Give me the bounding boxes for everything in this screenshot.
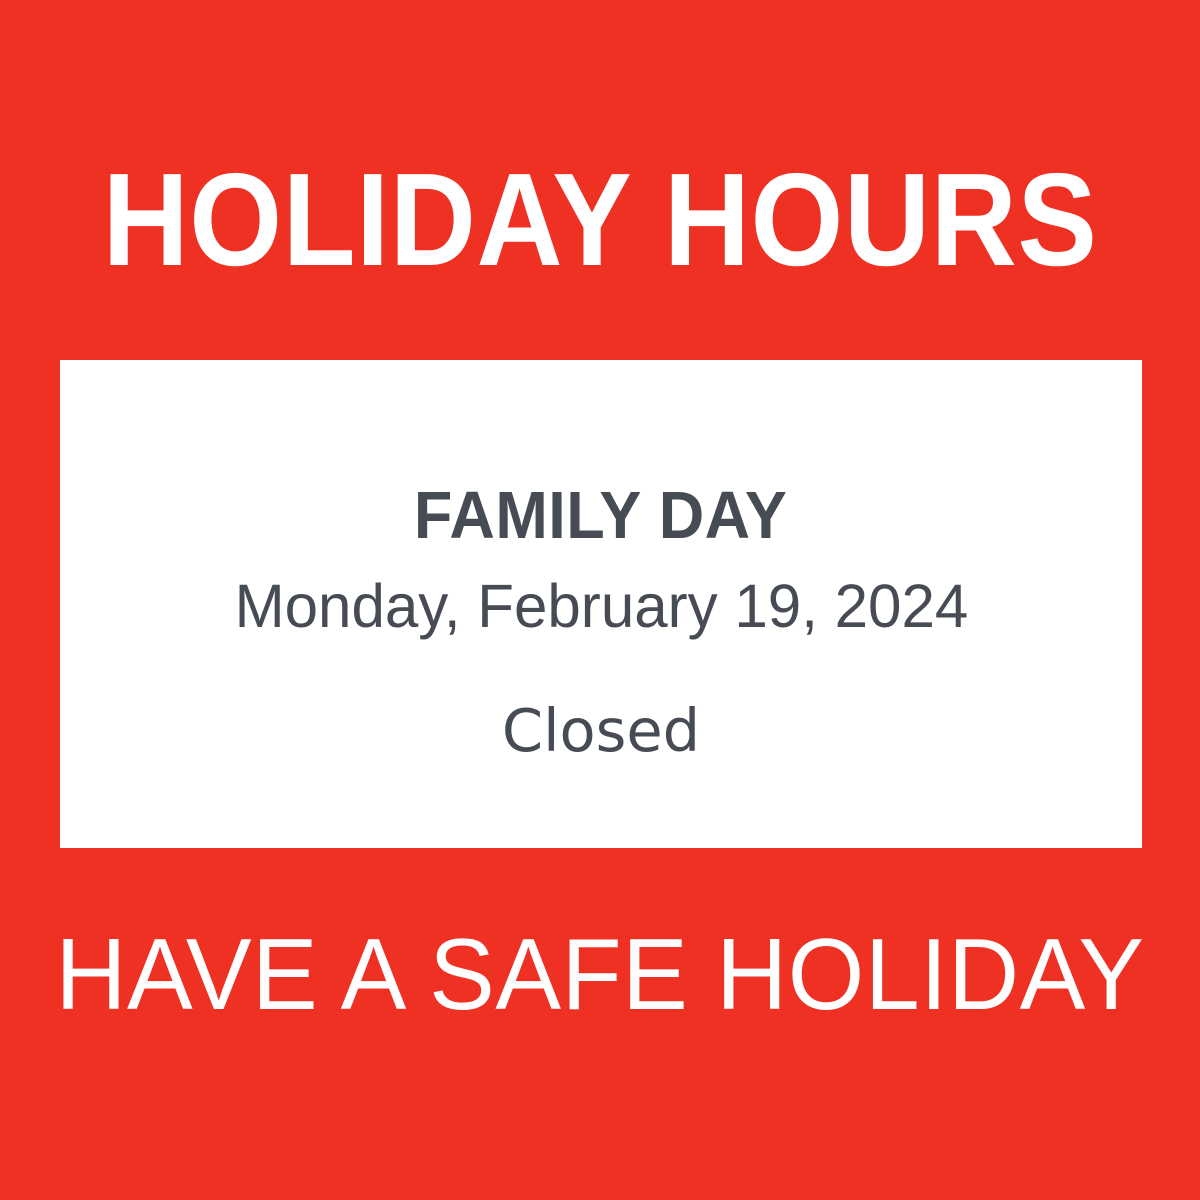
holiday-info-card-content: FAMILY DAY Monday, February 19, 2024 Clo… <box>60 360 1142 848</box>
holiday-info-card: FAMILY DAY Monday, February 19, 2024 Clo… <box>60 360 1142 848</box>
holiday-hours-poster: HOLIDAY HOURS FAMILY DAY Monday, Februar… <box>0 0 1200 1200</box>
holiday-date: Monday, February 19, 2024 <box>234 576 968 637</box>
page-title: HOLIDAY HOURS <box>57 150 1143 290</box>
footer-message: HAVE A SAFE HOLIDAY <box>15 915 1185 1035</box>
status-badge: Closed <box>502 701 700 760</box>
holiday-name: FAMILY DAY <box>414 482 787 549</box>
